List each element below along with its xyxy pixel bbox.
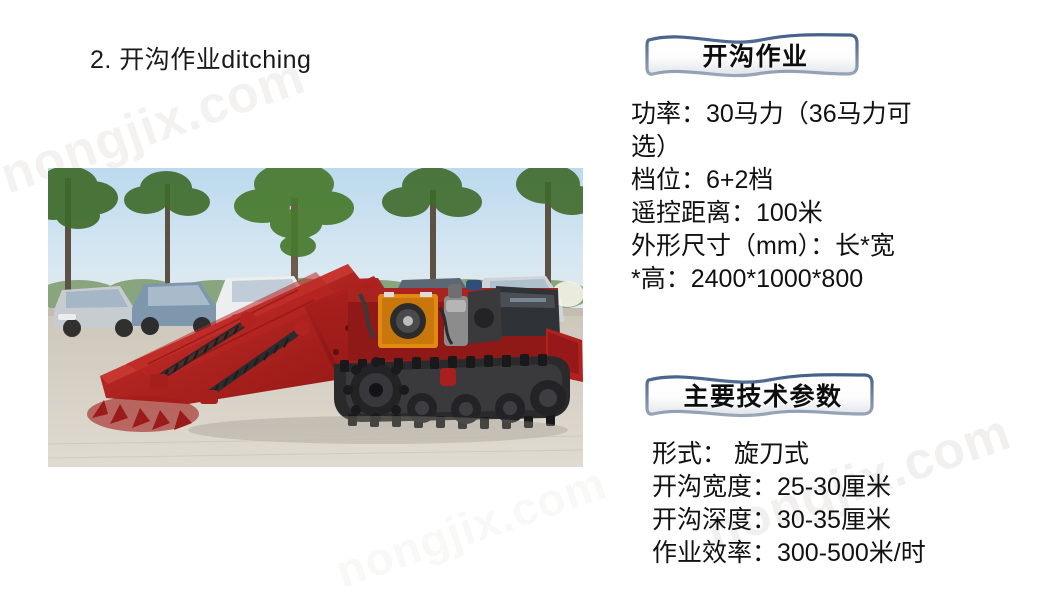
specs-ditching-list: 功率：30马力（36马力可 选） 档位：6+2档 遥控距离：100米 外形尺寸（… — [631, 98, 976, 296]
spec-line: 功率：30马力（36马力可 — [631, 98, 976, 131]
spec-line: 遥控距离：100米 — [631, 197, 976, 230]
watermark: nongjix.com — [329, 456, 613, 599]
spec-line: 外形尺寸（mm）：长*宽 — [631, 230, 976, 263]
slide-canvas: nongjix.com nongjix.com nongjix.com 2. 开… — [0, 0, 1039, 609]
banner-ditching: 开沟作业 — [645, 26, 860, 83]
spec-line: 开沟深度：30-35厘米 — [652, 504, 1012, 537]
banner-main-specs: 主要技术参数 — [645, 366, 875, 423]
spec-line: 形式： 旋刀式 — [652, 438, 1012, 471]
page-title: 2. 开沟作业ditching — [90, 40, 311, 76]
product-photo — [48, 168, 583, 467]
photo-illustration — [48, 168, 583, 467]
spec-line: 档位：6+2档 — [631, 164, 976, 197]
specs-technical-list: 形式： 旋刀式 开沟宽度：25-30厘米 开沟深度：30-35厘米 作业效率：3… — [652, 438, 1012, 570]
spec-line: 选） — [631, 131, 976, 164]
spec-line: 开沟宽度：25-30厘米 — [652, 471, 1012, 504]
banner-label: 开沟作业 — [645, 26, 860, 83]
spec-line: 作业效率：300-500米/时 — [652, 537, 1012, 570]
spec-line: *高：2400*1000*800 — [631, 263, 976, 296]
banner-label: 主要技术参数 — [645, 366, 875, 423]
